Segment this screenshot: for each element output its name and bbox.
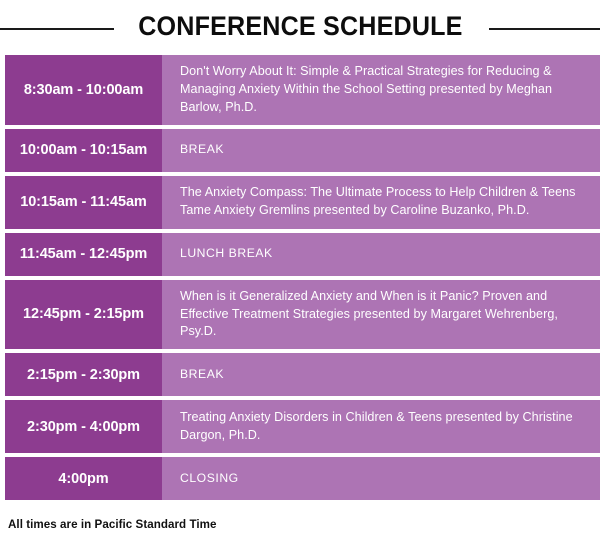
row-description: CLOSING [162,457,600,500]
schedule-table: 8:30am - 10:00am Don't Worry About It: S… [0,55,600,500]
row-time: 2:30pm - 4:00pm [5,400,162,453]
row-time: 8:30am - 10:00am [5,55,162,125]
table-row: 11:45am - 12:45pm LUNCH BREAK [5,233,600,276]
row-description: When is it Generalized Anxiety and When … [162,280,600,350]
row-time: 11:45am - 12:45pm [5,233,162,276]
row-description: BREAK [162,353,600,396]
conference-schedule-page: CONFERENCE SCHEDULE 8:30am - 10:00am Don… [0,0,600,545]
table-row: 4:00pm CLOSING [5,457,600,500]
table-row: 10:15am - 11:45am The Anxiety Compass: T… [5,176,600,229]
header-rule-right [489,28,600,30]
row-time: 10:00am - 10:15am [5,129,162,172]
row-time: 4:00pm [5,457,162,500]
row-time: 2:15pm - 2:30pm [5,353,162,396]
row-time: 12:45pm - 2:15pm [5,280,162,350]
row-description: LUNCH BREAK [162,233,600,276]
table-row: 10:00am - 10:15am BREAK [5,129,600,172]
table-row: 8:30am - 10:00am Don't Worry About It: S… [5,55,600,125]
row-description: BREAK [162,129,600,172]
header-rule-left [0,28,114,30]
row-description: The Anxiety Compass: The Ultimate Proces… [162,176,600,229]
row-description: Don't Worry About It: Simple & Practical… [162,55,600,125]
row-time: 10:15am - 11:45am [5,176,162,229]
page-title: CONFERENCE SCHEDULE [138,13,462,42]
table-row: 2:30pm - 4:00pm Treating Anxiety Disorde… [5,400,600,453]
table-row: 2:15pm - 2:30pm BREAK [5,353,600,396]
page-header: CONFERENCE SCHEDULE [0,0,600,55]
row-description: Treating Anxiety Disorders in Children &… [162,400,600,453]
timezone-note: All times are in Pacific Standard Time [0,504,600,531]
table-row: 12:45pm - 2:15pm When is it Generalized … [5,280,600,350]
